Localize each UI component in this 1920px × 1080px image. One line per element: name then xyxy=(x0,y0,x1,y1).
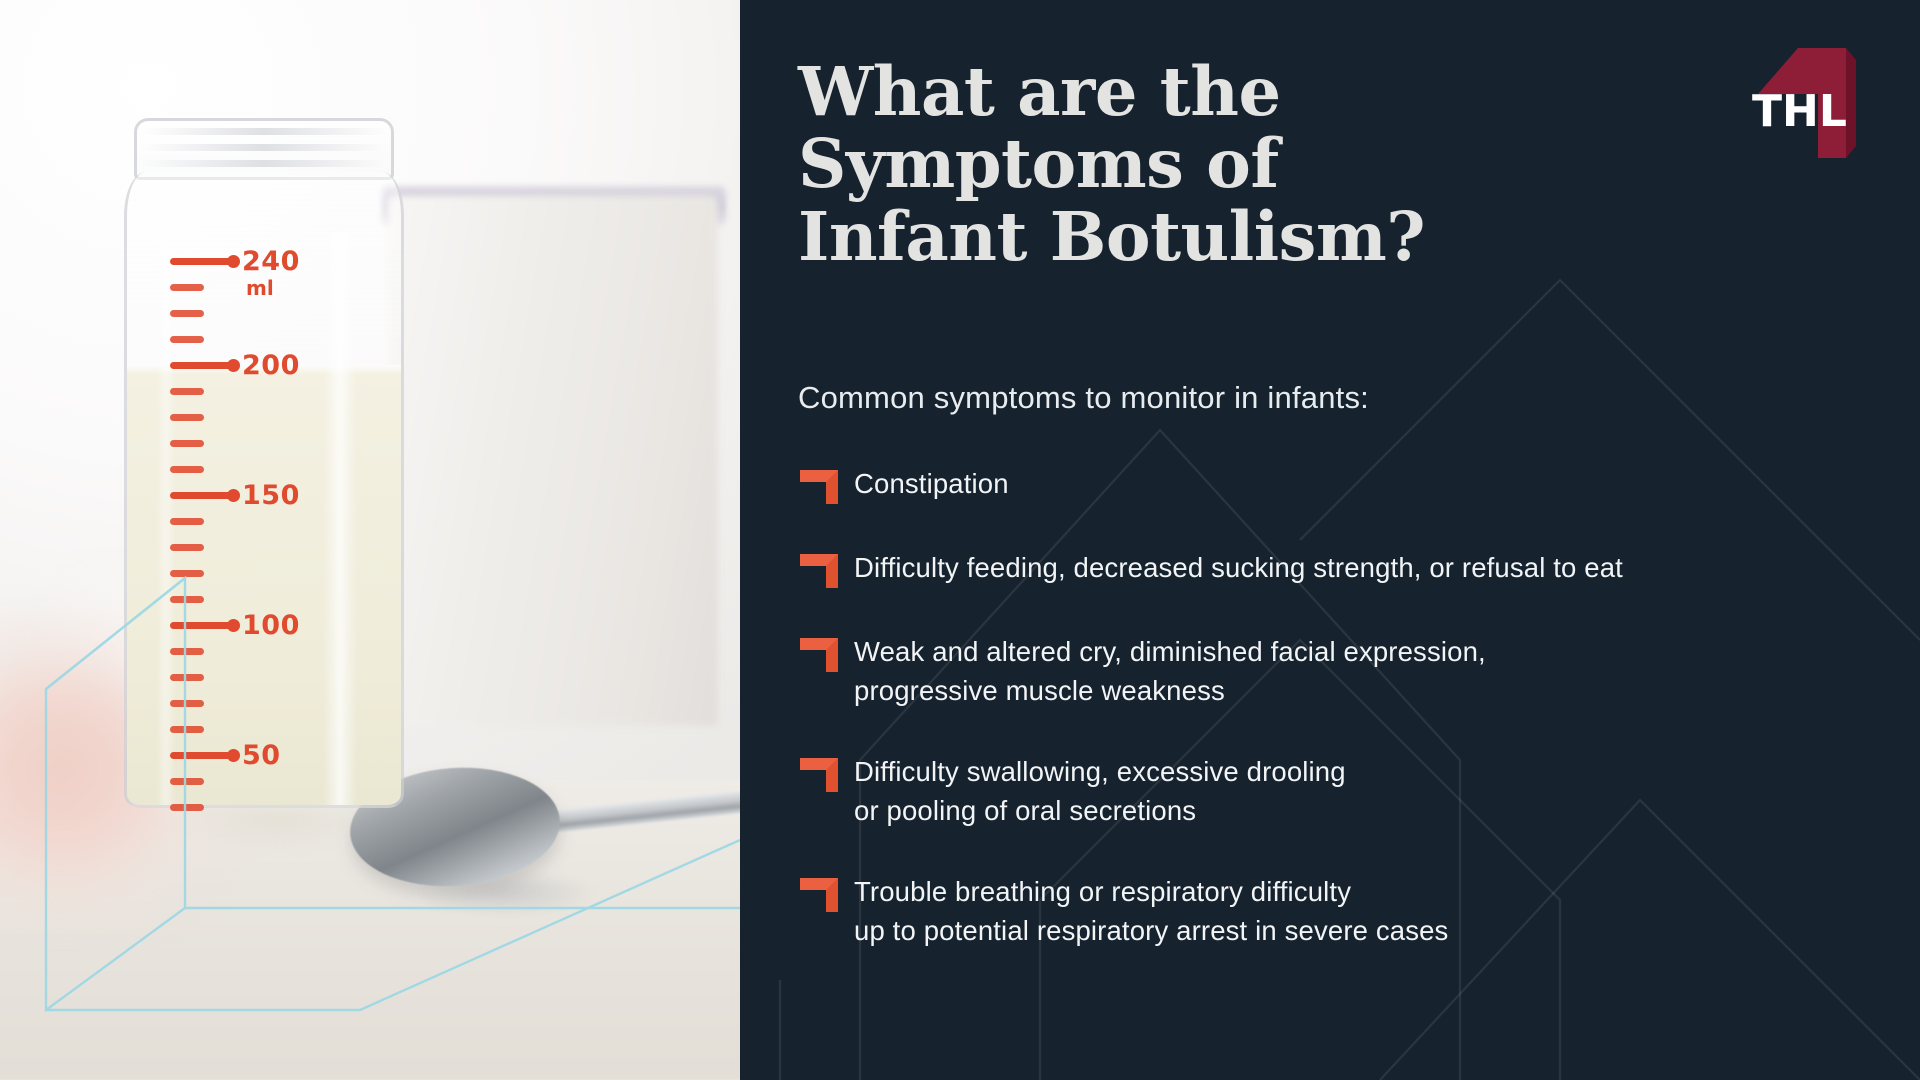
scale-unit-label: ml xyxy=(246,278,274,298)
arrow-marker-icon xyxy=(798,754,840,794)
scale-tick-minor-12 xyxy=(170,648,204,655)
list-item-line-2: progressive muscle weakness xyxy=(854,671,1486,710)
arrow-marker-icon xyxy=(798,466,840,506)
scale-label-50: 50 xyxy=(242,742,281,769)
scale-tick-minor-15 xyxy=(170,726,204,733)
list-item: Constipation xyxy=(798,462,1888,506)
scale-label-150: 150 xyxy=(242,482,300,509)
scale-tick-minor-17 xyxy=(170,804,204,811)
scale-tick-minor-1 xyxy=(170,284,204,291)
list-item: Difficulty swallowing, excessive droolin… xyxy=(798,750,1888,830)
bottle-thread-1 xyxy=(140,128,388,135)
scale-tick-50 xyxy=(170,752,232,759)
scale-label-240: 240 xyxy=(242,248,300,275)
content-panel: THL What are the Symptoms of Infant Botu… xyxy=(740,0,1920,1080)
scale-tick-minor-14 xyxy=(170,700,204,707)
list-item-text: Difficulty swallowing, excessive droolin… xyxy=(854,750,1346,830)
arrow-marker-icon xyxy=(798,550,840,590)
scale-tick-minor-9 xyxy=(170,544,204,551)
page-title-line-1: What are the xyxy=(798,56,1598,128)
scale-label-200: 200 xyxy=(242,352,300,379)
formula-tin xyxy=(388,196,718,726)
page-title-line-3: Infant Botulism? xyxy=(798,201,1598,273)
bottle-thread-3 xyxy=(140,160,388,167)
scale-tick-minor-10 xyxy=(170,570,204,577)
list-item-text: Constipation xyxy=(854,462,1009,503)
list-item-text: Weak and altered cry, diminished facial … xyxy=(854,630,1486,710)
bottle-thread-2 xyxy=(140,144,388,151)
list-item-line-1: Difficulty feeding, decreased sucking st… xyxy=(854,548,1623,587)
arrow-marker-icon xyxy=(798,874,840,914)
scale-tick-minor-2 xyxy=(170,310,204,317)
scale-tick-minor-11 xyxy=(170,596,204,603)
list-item: Difficulty feeding, decreased sucking st… xyxy=(798,546,1888,590)
list-item: Weak and altered cry, diminished facial … xyxy=(798,630,1888,710)
page-title: What are the Symptoms of Infant Botulism… xyxy=(798,56,1598,273)
thl-logo[interactable]: THL xyxy=(1736,34,1868,166)
arrow-marker-icon xyxy=(798,634,840,674)
list-item-line-1: Difficulty swallowing, excessive droolin… xyxy=(854,752,1346,791)
page-title-line-2: Symptoms of xyxy=(798,128,1598,200)
infographic-canvas: 240 ml 200 150 100 xyxy=(0,0,1920,1080)
scale-label-100: 100 xyxy=(242,612,300,639)
scale-tick-minor-8 xyxy=(170,518,204,525)
lede-text: Common symptoms to monitor in infants: xyxy=(798,380,1369,416)
scale-tick-minor-5 xyxy=(170,414,204,421)
list-item-line-1: Trouble breathing or respiratory difficu… xyxy=(854,872,1448,911)
scale-tick-minor-6 xyxy=(170,440,204,447)
list-item-text: Difficulty feeding, decreased sucking st… xyxy=(854,546,1623,587)
scale-tick-minor-16 xyxy=(170,778,204,785)
list-item: Trouble breathing or respiratory difficu… xyxy=(798,870,1888,950)
photo-panel: 240 ml 200 150 100 xyxy=(0,0,740,1080)
list-item-line-1: Constipation xyxy=(854,464,1009,503)
baby-bottle: 240 ml 200 150 100 xyxy=(118,118,408,808)
scale-tick-minor-7 xyxy=(170,466,204,473)
scale-tick-100 xyxy=(170,622,232,629)
list-item-line-2: up to potential respiratory arrest in se… xyxy=(854,911,1448,950)
scale-tick-200 xyxy=(170,362,232,369)
list-item-text: Trouble breathing or respiratory difficu… xyxy=(854,870,1448,950)
scale-tick-minor-4 xyxy=(170,388,204,395)
list-item-line-1: Weak and altered cry, diminished facial … xyxy=(854,632,1486,671)
scale-tick-minor-13 xyxy=(170,674,204,681)
scale-tick-minor-3 xyxy=(170,336,204,343)
symptom-list: Constipation Difficulty feeding, decreas… xyxy=(798,462,1888,990)
list-item-line-2: or pooling of oral secretions xyxy=(854,791,1346,830)
logo-wordmark: THL xyxy=(1752,86,1847,137)
scale-tick-240 xyxy=(170,258,232,265)
bottle-measurement-scale: 240 ml 200 150 100 xyxy=(170,258,350,778)
scale-tick-150 xyxy=(170,492,232,499)
